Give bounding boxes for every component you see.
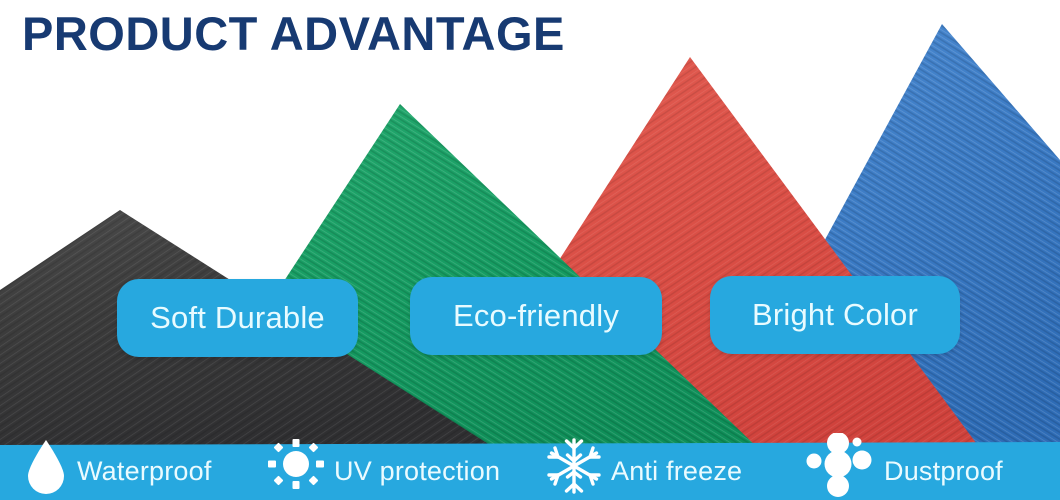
product-advantage-banner: PRODUCT ADVANTAGE Soft Durable Eco-frien… — [0, 0, 1060, 500]
feature-label: Dustproof — [884, 456, 1003, 487]
feature-pill-label: Eco-friendly — [453, 298, 619, 334]
bottom-feature-bar: Waterproof UV protection — [0, 443, 1060, 500]
feature-anti-freeze[interactable]: Anti freeze — [545, 443, 742, 500]
page-title: PRODUCT ADVANTAGE — [22, 8, 565, 61]
sun-icon — [266, 436, 326, 500]
snowflake-icon — [545, 436, 603, 500]
feature-pill-label: Bright Color — [752, 297, 918, 333]
water-drop-icon — [24, 438, 68, 500]
feature-pill-label: Soft Durable — [150, 300, 325, 336]
feature-waterproof[interactable]: Waterproof — [24, 443, 212, 500]
feature-pill-bright-color[interactable]: Bright Color — [710, 276, 960, 354]
feature-label: Waterproof — [77, 456, 212, 487]
feature-pill-soft-durable[interactable]: Soft Durable — [117, 279, 358, 357]
feature-pill-eco-friendly[interactable]: Eco-friendly — [410, 277, 662, 355]
feature-label: Anti freeze — [611, 456, 742, 487]
feature-dustproof[interactable]: Dustproof — [800, 443, 1003, 500]
feature-label: UV protection — [334, 456, 500, 487]
feature-uv-protection[interactable]: UV protection — [266, 443, 500, 500]
tarpaulin-sheets-illustration — [0, 0, 1060, 500]
dust-particles-icon — [800, 433, 878, 500]
